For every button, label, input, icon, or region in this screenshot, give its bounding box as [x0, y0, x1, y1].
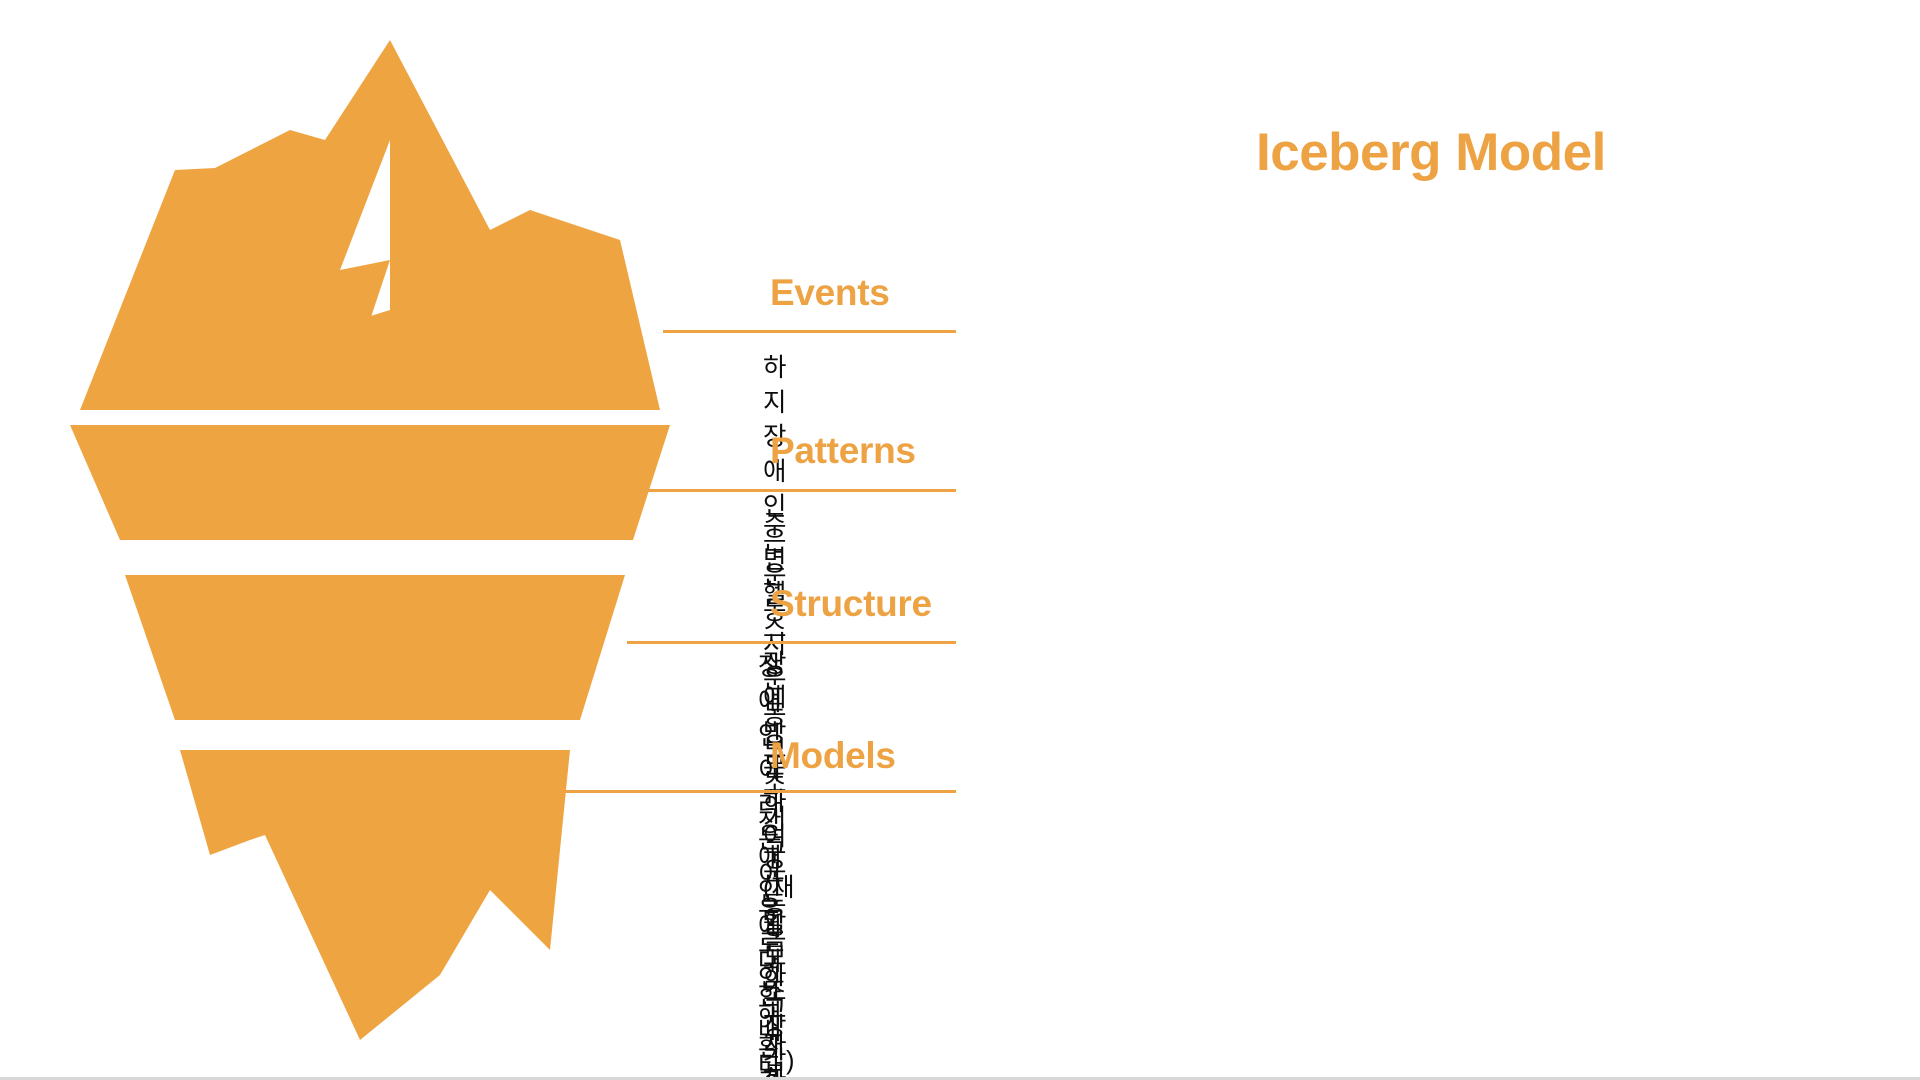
section-heading-models: Models — [770, 735, 896, 777]
section-heading-events: Events — [770, 272, 890, 314]
section-heading-structure: Structure — [770, 583, 932, 625]
content-column: Iceberg Model Events 하지장애인은 운동 시 운동보조기구(… — [0, 0, 1920, 1080]
section-body-models: 장애인에 대한 배타적 인식과 관심 및 물질적 지원 부족. — [758, 806, 788, 1080]
leader-line-patterns — [640, 489, 956, 492]
section-heading-patterns: Patterns — [770, 430, 916, 472]
leader-line-events — [663, 330, 956, 333]
slide-canvas: Iceberg Model Events 하지장애인은 운동 시 운동보조기구(… — [0, 0, 1920, 1080]
page-title: Iceberg Model — [1256, 122, 1606, 183]
leader-line-models — [563, 790, 956, 793]
leader-line-structure — [627, 641, 956, 644]
